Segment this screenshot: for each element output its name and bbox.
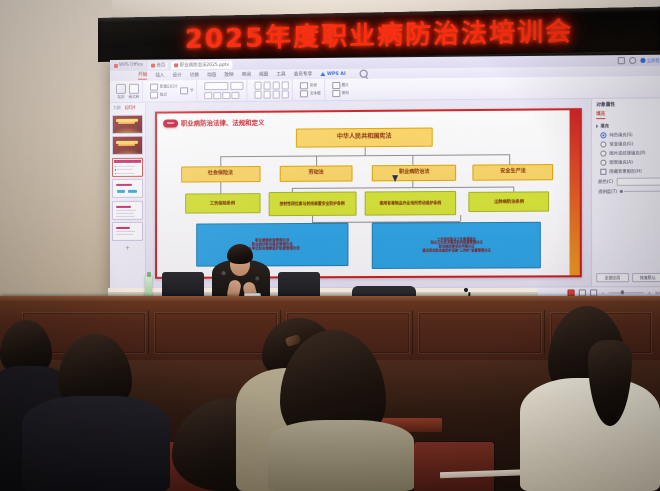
- wps-app-name: WPS Office: [119, 63, 143, 68]
- audience-2-body: [22, 396, 170, 491]
- color-row: 颜色(C): [598, 178, 660, 186]
- bullets-button[interactable]: [254, 82, 262, 90]
- bottle-cap: [147, 272, 151, 277]
- connector-h-1: [220, 155, 509, 158]
- conference-room-photo: 2025年度职业病防治法培训会 WPS Office 首页 职业病防治法2025…: [0, 0, 660, 491]
- new-slide-button[interactable]: 新建幻灯片: [150, 83, 178, 90]
- diagram-tier1-constitution[interactable]: 中华人民共和国宪法: [296, 128, 432, 148]
- font-row-bottom: [205, 91, 244, 99]
- shape-label: 形状: [310, 83, 317, 88]
- zoom-level[interactable]: 52%: [655, 290, 660, 295]
- tab-wps-ai[interactable]: WPS AI: [320, 71, 345, 76]
- tab-slideshow[interactable]: 放映: [224, 72, 233, 78]
- align-center-button[interactable]: [263, 91, 271, 99]
- podium-seam-1: [148, 310, 149, 354]
- thumbnail-panel-tabs: 大纲 幻灯片: [112, 105, 143, 112]
- slide-thumbnail-panel[interactable]: 大纲 幻灯片: [110, 103, 146, 288]
- font-rows: [205, 82, 244, 99]
- font-family-input[interactable]: [205, 82, 229, 90]
- paste-label: 粘贴: [117, 94, 124, 99]
- thumb-6-title: [116, 227, 130, 229]
- diagram-tier2-labor-law[interactable]: 劳动法: [280, 166, 352, 182]
- drawing-rows: 形状 文本框: [300, 82, 320, 98]
- login-label: 立即登录: [647, 57, 660, 63]
- zoom-slider[interactable]: [609, 292, 644, 293]
- align-left-button[interactable]: [254, 91, 262, 99]
- tab-view[interactable]: 视图: [259, 72, 268, 78]
- properties-title: 对象属性: [596, 102, 615, 108]
- connector-v-5: [509, 155, 510, 165]
- new-slide-icon: [150, 83, 158, 90]
- shape-button[interactable]: 形状: [300, 82, 320, 89]
- audience-chair-3: [414, 442, 494, 491]
- fill-section-header[interactable]: 填充: [596, 123, 660, 130]
- layout-label: 版式: [160, 93, 167, 98]
- apply-all-button[interactable]: 全部应用: [596, 273, 628, 282]
- thumb-1-sub-bar: [118, 122, 135, 124]
- textbox-icon: [300, 91, 308, 98]
- section-icon: [180, 87, 188, 94]
- thumb-3-line-1: [116, 166, 134, 167]
- projection-screen-wps: WPS Office 首页 职业病防治法2025.pptx 立即登录 开始: [110, 55, 660, 300]
- arrange-label: 排列: [342, 91, 349, 96]
- section-rows: 节: [180, 87, 193, 94]
- thumb-5-line-1: [116, 209, 136, 210]
- thumb-4-box-1: [117, 190, 126, 193]
- doc-tab-home[interactable]: 首页: [148, 61, 168, 69]
- ribbon-group-paragraph: [251, 79, 293, 100]
- slides-rows: 新建幻灯片 版式: [150, 83, 178, 99]
- ribbon-group-clipboard: 粘贴 格式刷: [113, 81, 143, 102]
- maximize-icon[interactable]: [629, 57, 636, 64]
- podium-cap-rail: [0, 296, 660, 303]
- format-painter-label: 格式刷: [129, 94, 140, 99]
- diagram-tier3-radioactive-isotopes[interactable]: 放射性同位素与射线装置安全防护条例: [268, 191, 356, 216]
- thumb-3-line-2: [116, 169, 133, 170]
- window-controls: 立即登录: [617, 57, 660, 65]
- podium-panel-4: [418, 312, 542, 354]
- thumbnail-slide-1[interactable]: [112, 114, 143, 133]
- diagram-tier2-social-insurance[interactable]: 社会保险法: [181, 166, 261, 182]
- connector-v-3: [316, 156, 317, 166]
- connector-v-1: [364, 147, 365, 156]
- indent-decrease-button[interactable]: [273, 82, 281, 90]
- doc-tab-home-label: 首页: [157, 62, 166, 68]
- doc-tab-presentation[interactable]: 职业病防治法2025.pptx: [171, 60, 232, 69]
- numbering-button[interactable]: [263, 82, 271, 90]
- underline-button[interactable]: [223, 91, 231, 99]
- zoom-out-button[interactable]: −: [601, 290, 604, 295]
- diagram-tier2-occupational-disease-law[interactable]: 职业病防治法: [372, 165, 456, 181]
- diagram-tier4-workplace-rules[interactable]: 工作场所职业卫生管理规定 职业卫生技术服务机构监督管理办法 职业病危害项目申报办…: [372, 222, 541, 269]
- thumb-1-art: [113, 115, 142, 132]
- properties-header: 对象属性: [596, 101, 660, 108]
- home-icon: [151, 63, 155, 67]
- line-spacing-button[interactable]: [282, 91, 290, 99]
- para-row-bottom: [254, 91, 289, 99]
- microphone-head: [464, 288, 468, 292]
- new-slide-label: 新建幻灯片: [160, 84, 178, 89]
- thumb-5-line-2: [116, 212, 134, 213]
- align-right-button[interactable]: [273, 91, 281, 99]
- checkbox-hide-bg-icon: [600, 169, 607, 176]
- connector-v-4: [412, 155, 413, 165]
- para-rows: [254, 82, 289, 99]
- bold-button[interactable]: [205, 92, 213, 100]
- doc-tab-presentation-label: 职业病防治法2025.pptx: [180, 61, 229, 67]
- thumb-2-glow: [112, 149, 143, 155]
- connector-v-6: [220, 182, 221, 193]
- fill-option-pattern-label: 图案填充(A): [609, 160, 633, 166]
- fill-option-solid[interactable]: 纯色填充(S): [600, 132, 660, 139]
- slide-accent-bar: [570, 110, 580, 275]
- fill-option-pattern[interactable]: 图案填充(A): [600, 159, 660, 166]
- indent-increase-button[interactable]: [282, 82, 290, 90]
- slider-track: [624, 191, 660, 192]
- podium-seam-3: [412, 310, 413, 354]
- tab-review[interactable]: 审阅: [242, 72, 251, 78]
- font-color-button[interactable]: [232, 91, 240, 99]
- audience-5-body: [268, 420, 414, 491]
- wps-logo: WPS Office: [112, 63, 145, 68]
- fill-option-picture-label: 图片或纹理填充(P): [609, 150, 645, 156]
- picture-icon: [332, 82, 340, 89]
- tab-member[interactable]: 会员专享: [294, 71, 313, 77]
- diagram-tier2-work-safety-law[interactable]: 安全生产法: [473, 164, 554, 180]
- slide-title: 职业病防治法律、法规和定义: [181, 118, 265, 128]
- tab-insert[interactable]: 插入: [155, 72, 164, 78]
- radio-solid-icon: [600, 132, 607, 139]
- radio-picture-icon: [600, 150, 607, 157]
- mouse-cursor: [392, 175, 398, 182]
- tab-outline[interactable]: 大纲: [113, 105, 121, 111]
- color-picker[interactable]: [616, 178, 660, 186]
- slider-knob: [620, 190, 623, 193]
- tab-transition[interactable]: 切换: [190, 72, 199, 78]
- arrange-icon: [332, 90, 340, 97]
- fill-option-gradient[interactable]: 渐变填充(G): [600, 141, 660, 148]
- arrange-button[interactable]: 排列: [332, 90, 349, 97]
- transparency-row: 透明度(T) 0: [598, 188, 660, 194]
- thumb-6-line-1: [116, 231, 135, 232]
- para-row-top: [254, 82, 289, 90]
- fill-option-solid-label: 纯色填充(S): [609, 132, 632, 138]
- picture-label: 图片: [342, 83, 349, 88]
- speaker-hair: [227, 244, 253, 264]
- bullet-oval-icon: [163, 119, 178, 127]
- radio-gradient-icon: [600, 141, 607, 148]
- properties-tab-fill[interactable]: 填充: [596, 111, 605, 119]
- ribbon-group-slides: 新建幻灯片 版式 节: [147, 80, 197, 101]
- thumb-3-art: [114, 159, 141, 174]
- diagram-tier3-work-injury-insurance[interactable]: 工伤保险条例: [185, 193, 261, 213]
- italic-button[interactable]: [214, 92, 222, 100]
- shape-icon: [300, 82, 308, 89]
- reset-default-button[interactable]: 恢复默认: [632, 273, 660, 282]
- color-label: 颜色(C): [598, 179, 613, 185]
- tab-start[interactable]: 开始: [138, 72, 147, 80]
- transparency-label: 透明度(T): [598, 189, 617, 195]
- connector-v-11: [461, 215, 462, 221]
- section-label: 节: [190, 88, 194, 93]
- ribbon-group-drawing: 形状 文本框: [297, 79, 325, 100]
- fill-option-hide-bg-label: 隐藏背景图形(H): [609, 169, 641, 175]
- thumb-5-title: [116, 205, 131, 207]
- tab-slides[interactable]: 幻灯片: [125, 105, 136, 111]
- thumb-5-line-3: [116, 215, 135, 216]
- wps-logo-icon: [114, 63, 118, 67]
- thumb-4-box-2: [128, 190, 137, 193]
- format-painter-icon: [129, 83, 139, 93]
- picture-button[interactable]: 图片: [332, 82, 349, 89]
- thumb-5-art: [114, 202, 141, 217]
- transparency-slider[interactable]: 0: [620, 189, 660, 195]
- podium-panel-2: [154, 312, 278, 354]
- properties-footer: 全部应用 恢复默认: [596, 273, 660, 282]
- paste-icon: [116, 83, 126, 93]
- minimize-icon[interactable]: [617, 57, 624, 64]
- slide-title-group: 职业病防治法律、法规和定义: [163, 118, 265, 128]
- thumb-2-art: [113, 137, 142, 154]
- search-icon[interactable]: [360, 70, 368, 78]
- diagram-tier3-toxic-substances[interactable]: 使用有毒物品作业场所劳动保护条例: [364, 191, 456, 216]
- fill-option-hide-bg[interactable]: 隐藏背景图形(H): [600, 168, 660, 175]
- room-left-wall: [0, 0, 112, 320]
- thumbnail-slide-3[interactable]: [112, 157, 143, 176]
- paste-button[interactable]: 粘贴: [116, 83, 126, 99]
- thumb-2-sub-bar: [118, 144, 135, 146]
- thumbnail-slide-5[interactable]: [112, 200, 143, 219]
- arrange-rows: 图片 排列: [332, 82, 349, 98]
- fill-option-picture[interactable]: 图片或纹理填充(P): [600, 150, 660, 157]
- textbox-label: 文本框: [310, 91, 321, 96]
- object-properties-panel[interactable]: 对象属性 填充 填充 纯色填充(S) 渐变填充(G) 图片或纹理填充(P): [591, 98, 660, 286]
- add-slide-button[interactable]: +: [112, 245, 143, 251]
- tab-tools[interactable]: 工具: [276, 71, 285, 77]
- thumb-1-glow: [112, 127, 143, 133]
- tab-design[interactable]: 设计: [172, 72, 181, 78]
- connector-v-2: [220, 157, 221, 167]
- layout-button[interactable]: 版式: [150, 92, 178, 99]
- thumb-6-line-2: [116, 234, 133, 235]
- connector-h-2: [292, 186, 513, 188]
- audience-6-body: [520, 378, 660, 491]
- zoom-in-button[interactable]: +: [648, 290, 651, 295]
- thumb-3-line-3: [116, 173, 135, 174]
- thumb-6-art: [114, 224, 141, 239]
- thumb-4-title: [116, 184, 132, 186]
- tab-animation[interactable]: 动画: [207, 72, 216, 78]
- fill-section-label: 填充: [600, 123, 609, 129]
- speaker-presenter: [206, 240, 276, 302]
- layout-icon: [150, 92, 158, 99]
- textbox-button[interactable]: 文本框: [300, 90, 320, 97]
- zoom-slider-knob: [621, 291, 624, 294]
- thumbnail-slide-6[interactable]: [112, 222, 143, 241]
- thumb-4-art: [114, 181, 141, 196]
- format-painter-button[interactable]: 格式刷: [129, 83, 140, 99]
- section-button[interactable]: 节: [180, 87, 193, 94]
- diagram-tier3-pneumoconiosis[interactable]: 尘肺病防治条例: [469, 192, 550, 213]
- login-button[interactable]: 立即登录: [640, 57, 660, 63]
- thumb-3-band: [114, 159, 141, 163]
- thumbnail-slide-2[interactable]: [112, 136, 143, 155]
- podium-seam-4: [544, 310, 545, 354]
- pptx-icon: [174, 63, 178, 67]
- ribbon-group-font: [202, 80, 248, 101]
- expand-icon: [596, 124, 598, 128]
- font-row-top: [205, 82, 244, 90]
- font-size-input[interactable]: [230, 82, 243, 90]
- thumbnail-slide-4[interactable]: [112, 179, 143, 198]
- ribbon-group-arrange: 图片 排列: [329, 79, 352, 100]
- fill-option-gradient-label: 渐变填充(G): [609, 141, 633, 147]
- radio-pattern-icon: [600, 160, 607, 167]
- avatar-icon: [640, 58, 645, 63]
